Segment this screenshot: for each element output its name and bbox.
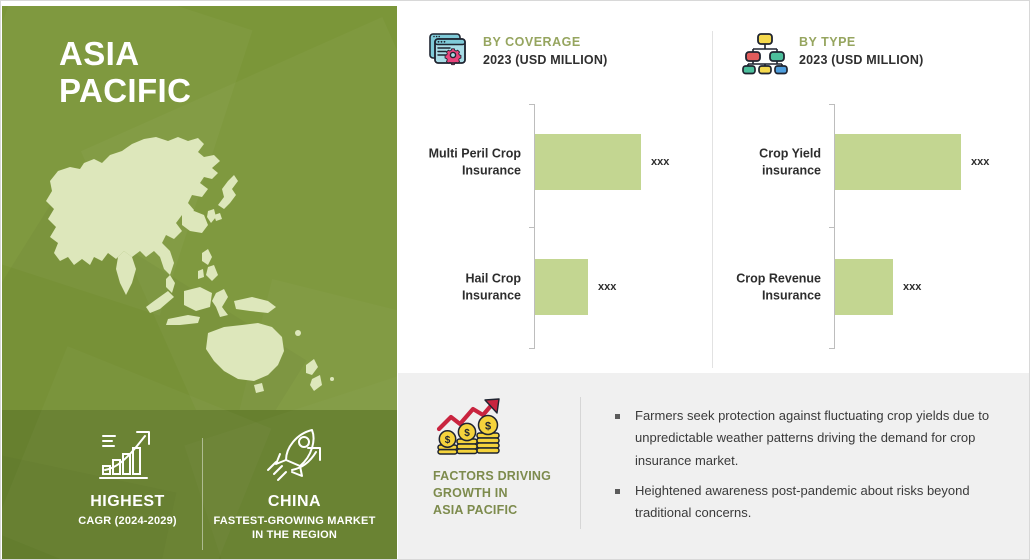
axis-tick [529, 348, 535, 349]
factors-panel: $ $ $ [398, 373, 1030, 560]
chart-header-text: BY TYPE 2023 (USD MILLION) [799, 35, 923, 68]
list-item: Heightened awareness post-pandemic about… [613, 480, 1003, 525]
bar-value-label: xxx [903, 281, 921, 293]
plot-area-coverage: Multi Peril Crop Insurance xxx Hail Crop… [398, 104, 712, 354]
bar: xxx [535, 259, 588, 315]
chart-subtitle: 2023 (USD MILLION) [483, 53, 607, 69]
factors-heading-block: $ $ $ [433, 395, 593, 519]
list-item-text: Heightened awareness post-pandemic about… [635, 483, 970, 520]
chart-header: BY TYPE 2023 (USD MILLION) [742, 29, 923, 75]
stat-sub-label: FASTEST-GROWING MARKET IN THE REGION [207, 514, 382, 543]
svg-text:$: $ [445, 435, 451, 446]
charts-divider [712, 31, 713, 368]
chart-header: BY COVERAGE 2023 (USD MILLION) [426, 29, 607, 75]
org-chart-hierarchy-icon [742, 29, 788, 75]
region-stats-band: HIGHEST CAGR (2024-2029) [2, 410, 397, 560]
factors-title: FACTORS DRIVING GROWTH IN ASIA PACIFIC [433, 468, 593, 519]
svg-text:$: $ [485, 421, 491, 433]
bullet-icon [615, 489, 620, 494]
bar: xxx [835, 259, 893, 315]
bar-category-label: Crop Yield insurance [701, 146, 821, 179]
factors-title-line1: FACTORS DRIVING [433, 468, 593, 485]
asia-pacific-map-icon [32, 111, 372, 396]
bullet-icon [615, 414, 620, 419]
bar-category-line1: Crop Revenue [736, 272, 821, 286]
axis-tick [529, 227, 535, 228]
list-item-text: Farmers seek protection against fluctuat… [635, 408, 989, 468]
chart-by-coverage: BY COVERAGE 2023 (USD MILLION) Multi Per… [398, 6, 712, 373]
stat-sub-line1: FASTEST-GROWING MARKET [213, 515, 375, 527]
coins-growth-arrow-icon: $ $ $ [433, 395, 593, 457]
bar: xxx [835, 134, 961, 190]
chart-by-type: BY TYPE 2023 (USD MILLION) Crop Yield in… [714, 6, 1030, 373]
chart-kicker: BY COVERAGE [483, 35, 607, 51]
stat-main-label: HIGHEST [40, 493, 215, 511]
stat-fastest-growing-country: CHINA FASTEST-GROWING MARKET IN THE REGI… [207, 426, 382, 543]
charts-area: BY COVERAGE 2023 (USD MILLION) Multi Per… [398, 6, 1030, 373]
region-panel: ASIA PACIFIC [2, 6, 397, 560]
bar-value-label: xxx [971, 156, 989, 168]
stacked-windows-gear-icon [426, 29, 472, 75]
stat-sub-line2: IN THE REGION [252, 529, 337, 541]
bar-category-line2: insurance [762, 163, 821, 177]
factors-title-line3: ASIA PACIFIC [433, 502, 593, 519]
bar-chart-growth-icon [40, 426, 215, 484]
chart-header-text: BY COVERAGE 2023 (USD MILLION) [483, 35, 607, 68]
factors-list: Farmers seek protection against fluctuat… [613, 405, 1003, 533]
region-title-line2: PACIFIC [59, 73, 191, 110]
plot-area-type: Crop Yield insurance xxx Crop Revenue In… [714, 104, 1030, 354]
region-title-line1: ASIA [59, 35, 139, 72]
rocket-launch-icon [207, 426, 382, 484]
chart-kicker: BY TYPE [799, 35, 923, 51]
axis-tick [829, 348, 835, 349]
factors-divider [580, 397, 581, 529]
bar-category-line2: Insurance [462, 163, 521, 177]
bar-value-label: xxx [598, 281, 616, 293]
bar: xxx [535, 134, 641, 190]
bar-value-label: xxx [651, 156, 669, 168]
stat-sub-label: CAGR (2024-2029) [40, 514, 215, 528]
bar-category-label: Hail Crop Insurance [401, 271, 521, 304]
factors-title-line2: GROWTH IN [433, 485, 593, 502]
stat-main-label: CHINA [207, 493, 382, 511]
axis-tick [829, 104, 835, 105]
page-title: ASIA PACIFIC [59, 36, 191, 110]
bar-category-line1: Multi Peril Crop [429, 147, 521, 161]
chart-subtitle: 2023 (USD MILLION) [799, 53, 923, 69]
svg-text:$: $ [464, 428, 470, 439]
stat-highest-cagr: HIGHEST CAGR (2024-2029) [40, 426, 215, 528]
bar-category-line2: Insurance [762, 288, 821, 302]
axis-tick [529, 104, 535, 105]
bar-category-label: Multi Peril Crop Insurance [401, 146, 521, 179]
bar-category-line2: Insurance [462, 288, 521, 302]
bar-category-label: Crop Revenue Insurance [701, 271, 821, 304]
list-item: Farmers seek protection against fluctuat… [613, 405, 1003, 472]
axis-tick [829, 227, 835, 228]
infographic-page: ASIA PACIFIC [0, 0, 1030, 560]
bar-category-line1: Crop Yield [759, 147, 821, 161]
bar-category-line1: Hail Crop [465, 272, 521, 286]
